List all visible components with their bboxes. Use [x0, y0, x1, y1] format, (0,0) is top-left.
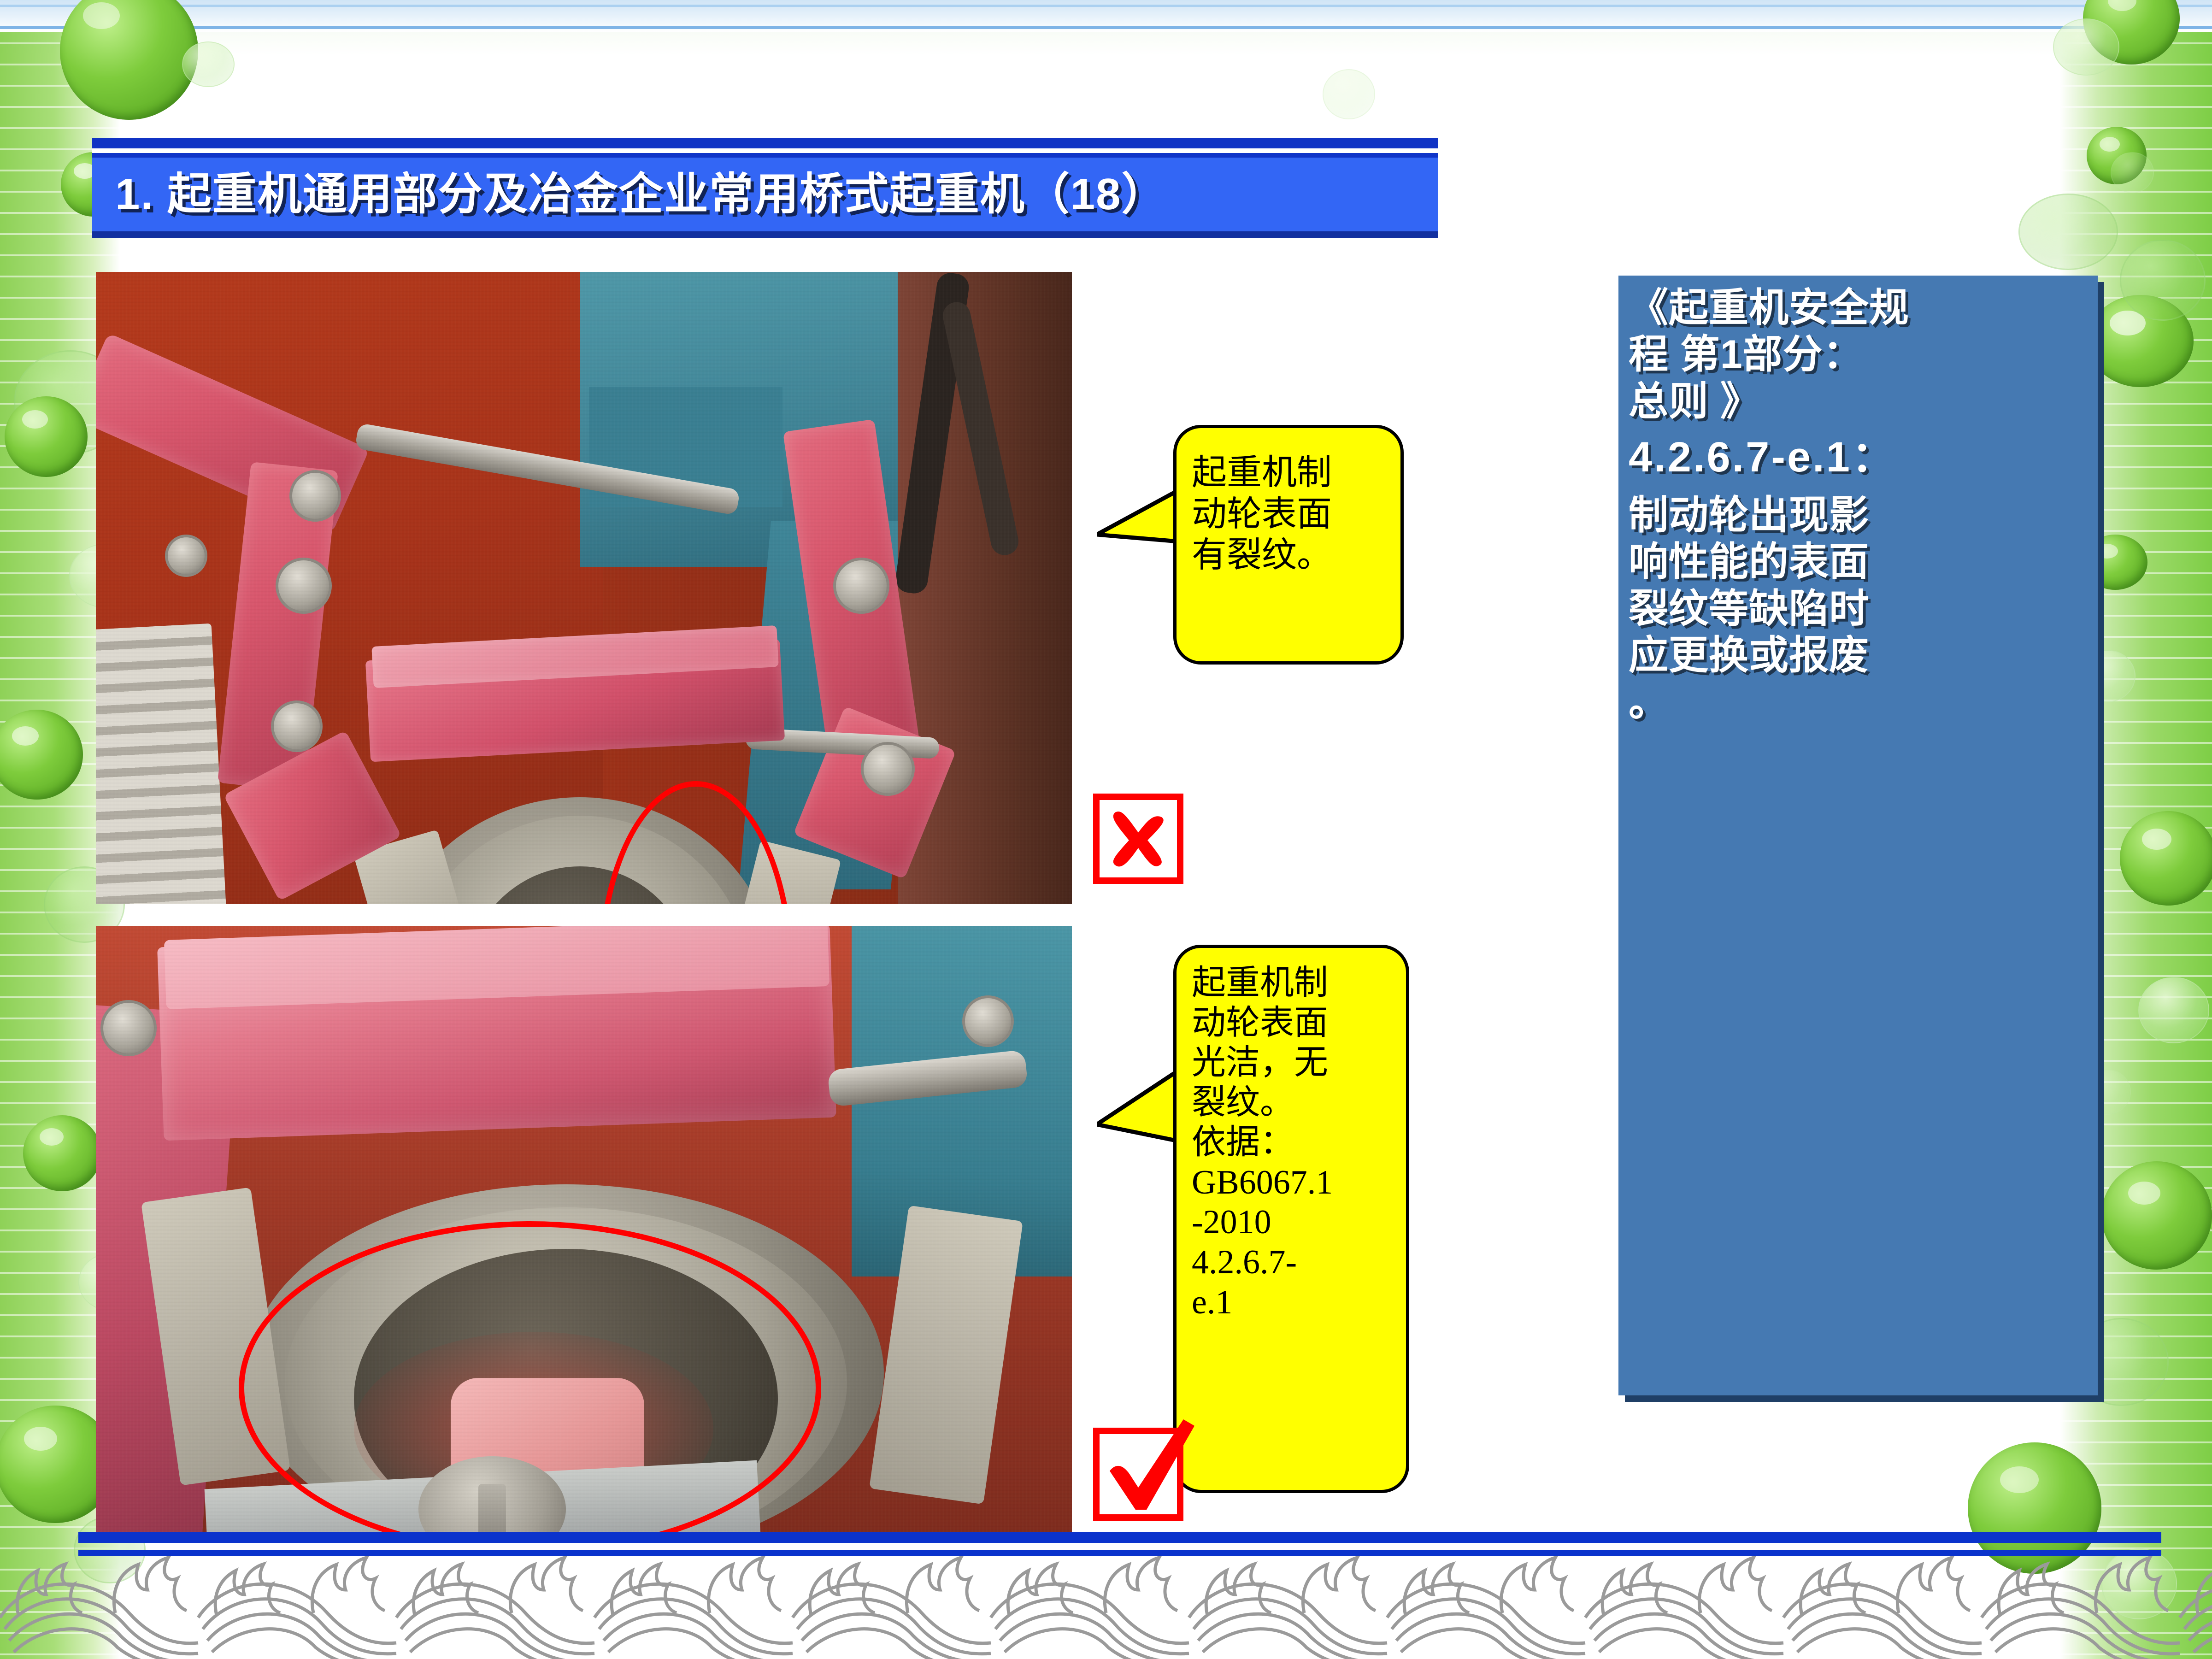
callout-ok-text: 起重机制 动轮表面 光洁，无 裂纹。 依据： GB6067.1 -2010 4.…: [1192, 963, 1404, 1322]
photo-defective-brake-drum: [96, 272, 1072, 904]
annotation-ellipse-smooth: [239, 1221, 821, 1539]
callout-defect: 起重机制 动轮表面 有裂纹。: [1097, 415, 1410, 673]
reference-body: 制动轮出现影 响性能的表面 裂纹等缺陷时 应更换或报废 。: [1629, 492, 2089, 726]
slide-title-block: 1. 起重机通用部分及冶金企业常用桥式起重机（18）: [92, 138, 1438, 238]
callout-defect-text: 起重机制 动轮表面 有裂纹。: [1192, 453, 1394, 577]
title-banner: 1. 起重机通用部分及冶金企业常用桥式起重机（18）: [92, 158, 1438, 231]
title-rule-top: [92, 138, 1438, 148]
title-rule-thin: [92, 153, 1438, 158]
decor-top-rule-thin: [0, 5, 2212, 7]
photo-good-brake-drum: [96, 926, 1072, 1539]
decor-bottom-rule-thick: [78, 1532, 2161, 1543]
title-rule-gap: [92, 148, 1438, 153]
status-badge-cross: [1093, 794, 1183, 884]
decor-bottom-rule-thin: [78, 1550, 2161, 1556]
decor-top-rule: [0, 26, 2212, 29]
title-rule-bottom: [92, 231, 1438, 238]
page-title: 1. 起重机通用部分及冶金企业常用桥式起重机（18）: [115, 172, 1167, 217]
check-icon: [1093, 1414, 1199, 1523]
reference-panel: 《起重机安全规 程 第1部分： 总则 》 4.2.6.7-e.1： 制动轮出现影…: [1618, 276, 2098, 1395]
reference-standard-title: 《起重机安全规 程 第1部分： 总则 》: [1629, 285, 2089, 425]
reference-clause: 4.2.6.7-e.1：: [1629, 432, 2089, 482]
close-icon: [1113, 812, 1164, 866]
slide-canvas: 1. 起重机通用部分及冶金企业常用桥式起重机（18）: [0, 0, 2212, 1659]
